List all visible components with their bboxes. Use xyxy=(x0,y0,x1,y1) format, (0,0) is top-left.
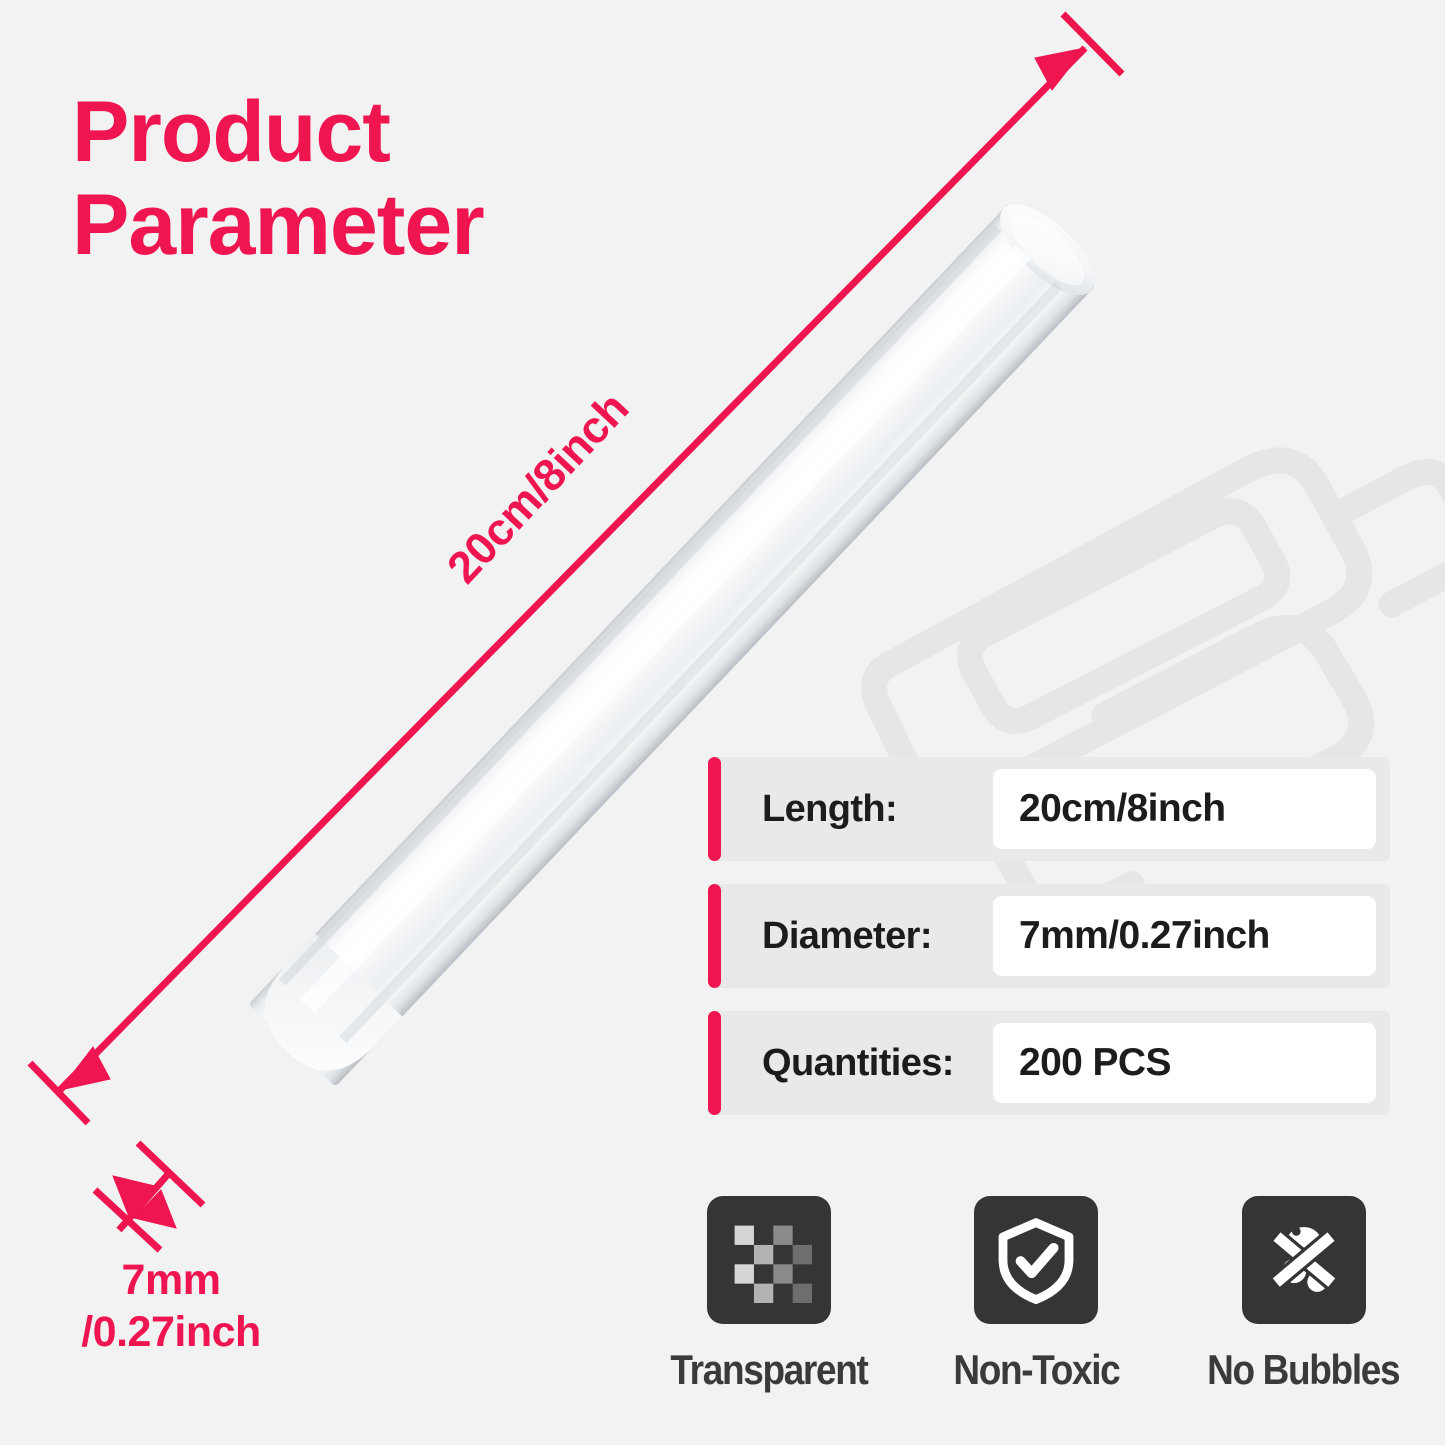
page-title: Product Parameter xyxy=(72,86,712,272)
length-arrowhead-bottom xyxy=(60,1047,110,1090)
spec-value-pill: 7mm/0.27inch xyxy=(993,896,1376,976)
feature-badge xyxy=(707,1196,831,1324)
spec-value-pill: 200 PCS xyxy=(993,1023,1376,1103)
shield-check-icon xyxy=(992,1216,1080,1304)
spec-label: Length: xyxy=(762,788,980,831)
title-line-1: Product xyxy=(72,86,712,179)
bubbles-crossed-out-icon xyxy=(1260,1216,1348,1304)
feature-no-bubbles: No Bubbles xyxy=(1181,1196,1426,1394)
title-line-2: Parameter xyxy=(72,179,712,272)
feature-badge xyxy=(974,1196,1098,1324)
feature-non-toxic: Non-Toxic xyxy=(914,1196,1159,1394)
spec-label: Diameter: xyxy=(762,915,980,958)
feature-label: Transparent xyxy=(670,1346,867,1394)
feature-label: Non-Toxic xyxy=(953,1346,1119,1394)
spec-accent-bar xyxy=(708,1011,721,1115)
spec-value: 20cm/8inch xyxy=(1019,787,1225,831)
diameter-arrow-shaft xyxy=(119,1172,170,1230)
diameter-callout-line-1: 7mm xyxy=(46,1255,296,1307)
feature-badges: Transparent Non-Toxic xyxy=(646,1196,1426,1394)
spec-value: 7mm/0.27inch xyxy=(1019,914,1270,958)
diameter-arrowhead-down xyxy=(134,1190,176,1228)
spec-accent-bar xyxy=(708,757,721,861)
spec-row-diameter: Diameter: 7mm/0.27inch xyxy=(708,884,1390,988)
checkerboard-transparency-icon xyxy=(726,1217,812,1303)
length-arrowhead-top xyxy=(1035,48,1085,90)
diameter-callout-line-2: /0.27inch xyxy=(46,1307,296,1359)
spec-row-quantities: Quantities: 200 PCS xyxy=(708,1011,1390,1115)
length-tick-top xyxy=(1063,14,1122,74)
spec-table: Length: 20cm/8inch Diameter: 7mm/0.27inc… xyxy=(708,757,1390,1138)
spec-value: 200 PCS xyxy=(1019,1041,1171,1085)
spec-row-length: Length: 20cm/8inch xyxy=(708,757,1390,861)
spec-value-pill: 20cm/8inch xyxy=(993,769,1376,849)
length-callout: 20cm/8inch xyxy=(437,382,639,593)
feature-transparent: Transparent xyxy=(646,1196,891,1394)
spec-accent-bar xyxy=(708,884,721,988)
diameter-callout: 7mm /0.27inch xyxy=(46,1255,296,1358)
feature-badge xyxy=(1242,1196,1366,1324)
spec-label: Quantities: xyxy=(762,1042,980,1085)
diameter-dimension xyxy=(95,1143,203,1250)
feature-label: No Bubbles xyxy=(1207,1346,1399,1394)
diameter-tick-right xyxy=(138,1143,203,1205)
diameter-arrowhead-up xyxy=(113,1176,155,1214)
product-parameter-infographic: Product Parameter xyxy=(0,0,1445,1445)
diameter-tick-left xyxy=(95,1190,160,1250)
length-tick-bottom xyxy=(30,1063,88,1123)
